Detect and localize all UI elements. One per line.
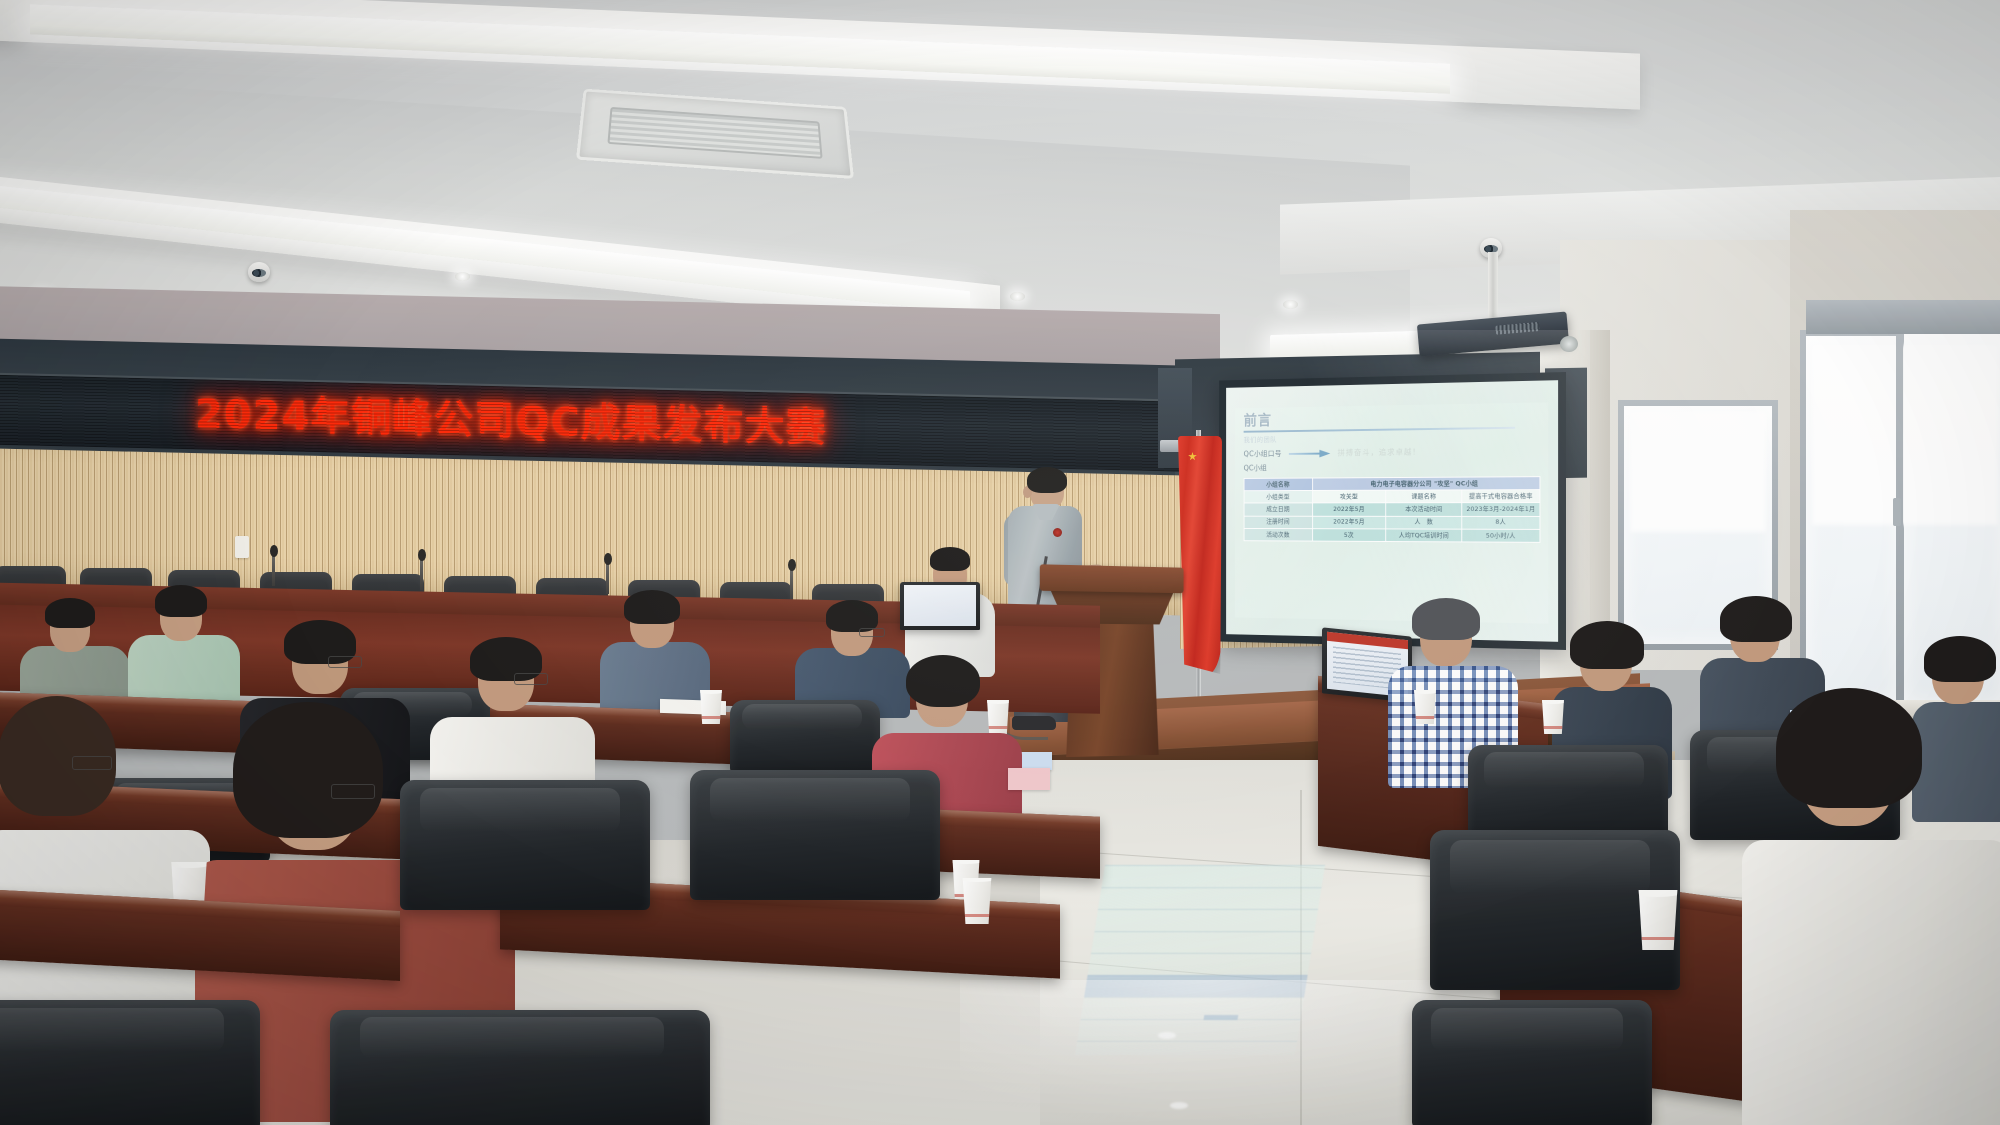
seat-sheen bbox=[1450, 840, 1650, 894]
downlight-icon bbox=[455, 272, 470, 281]
table-cell: 2023年3月-2024年1月 bbox=[1462, 503, 1540, 516]
table-row: 注册时间 2022年5月 人 数 8人 bbox=[1244, 516, 1540, 529]
seat-sheen bbox=[1431, 1008, 1623, 1052]
seat-sheen bbox=[420, 788, 620, 832]
audience-member bbox=[600, 590, 710, 710]
table-cell: 小组名称 bbox=[1244, 478, 1312, 491]
slide-slogan-row: QC小组口号 拼搏奋斗，追求卓越！ bbox=[1244, 445, 1541, 459]
audience-shirt bbox=[1742, 840, 2000, 1125]
table-row: 小组名称 电力电子电容器分公司 "攻坚" QC小组 bbox=[1244, 477, 1540, 491]
audience-hair-ponytail bbox=[906, 655, 980, 707]
table-cell: 电力电子电容器分公司 "攻坚" QC小组 bbox=[1312, 477, 1540, 491]
slide-table: 小组名称 电力电子电容器分公司 "攻坚" QC小组 小组类型 攻关型 课题名称 … bbox=[1244, 476, 1541, 543]
table-cell: 小组类型 bbox=[1244, 491, 1312, 504]
laptop-display bbox=[904, 585, 976, 626]
security-camera-icon bbox=[248, 262, 270, 282]
wall-switch[interactable] bbox=[235, 536, 249, 558]
floor-highlight bbox=[1170, 1102, 1188, 1109]
operator-hair bbox=[930, 547, 970, 571]
glasses-icon bbox=[514, 673, 548, 685]
auditorium-seat[interactable] bbox=[0, 1000, 260, 1125]
paper-cup[interactable] bbox=[960, 878, 994, 924]
table-cell: 8人 bbox=[1462, 516, 1540, 529]
table-cell: 注册时间 bbox=[1244, 516, 1312, 529]
projector-mount-pole bbox=[1488, 252, 1498, 324]
audience-hair bbox=[155, 585, 207, 617]
led-banner-text: 2024年铜峰公司QC成果发布大赛 bbox=[195, 394, 827, 448]
desk-microphone bbox=[606, 560, 609, 594]
audience-hair bbox=[1720, 596, 1792, 642]
slide-content: 前言 我们的团队 QC小组口号 拼搏奋斗，追求卓越！ QC小组 小组名称 电力电… bbox=[1235, 402, 1548, 623]
operator-laptop[interactable] bbox=[900, 582, 980, 630]
table-cell: 成立日期 bbox=[1244, 503, 1312, 516]
window-glare-mid bbox=[1630, 412, 1766, 532]
chinese-flag bbox=[1178, 436, 1222, 674]
audience-member bbox=[128, 585, 240, 700]
paper-cup[interactable] bbox=[1540, 700, 1566, 734]
window-glare bbox=[1812, 345, 1998, 525]
downlight-icon bbox=[1283, 300, 1298, 309]
audience-hair bbox=[1924, 636, 1996, 682]
table-row: 活动次数 5次 人均TQC培训时间 50小时/人 bbox=[1244, 528, 1540, 542]
slide-slogan-text: 拼搏奋斗，追求卓越！ bbox=[1337, 447, 1420, 459]
desk-microphone bbox=[272, 552, 275, 586]
audience-hair bbox=[45, 598, 95, 628]
glasses-icon bbox=[72, 756, 112, 770]
slide-title: 前言 bbox=[1244, 408, 1541, 428]
table-cell: 人 数 bbox=[1386, 516, 1462, 529]
auditorium-seat[interactable] bbox=[730, 700, 880, 774]
glasses-icon bbox=[859, 628, 885, 637]
table-cell: 提高干式电容器合格率 bbox=[1462, 490, 1540, 503]
audience-hair bbox=[1776, 688, 1922, 808]
podium-top bbox=[1040, 564, 1184, 593]
table-cell: 攻关型 bbox=[1312, 490, 1386, 503]
audience-member bbox=[1742, 690, 2000, 1125]
desk-microphone bbox=[420, 556, 423, 590]
seat-sheen bbox=[742, 704, 862, 729]
downlight-icon bbox=[1010, 292, 1025, 301]
slide-section-label: QC小组 bbox=[1244, 460, 1541, 473]
arrow-right-icon bbox=[1289, 450, 1330, 457]
window-handle-icon[interactable] bbox=[1893, 498, 1901, 526]
audience-hair bbox=[1412, 598, 1480, 640]
table-cell: 活动次数 bbox=[1244, 528, 1312, 541]
slide-slogan-label: QC小组口号 bbox=[1244, 448, 1282, 459]
seat-sheen bbox=[360, 1017, 664, 1058]
auditorium-seat[interactable] bbox=[330, 1010, 710, 1125]
seat-sheen bbox=[710, 778, 910, 822]
paper-cup[interactable] bbox=[698, 690, 724, 724]
auditorium-seat[interactable] bbox=[1412, 1000, 1652, 1125]
audience-hair bbox=[1570, 621, 1644, 669]
ac-grill-icon bbox=[608, 107, 822, 159]
glasses-icon bbox=[331, 784, 375, 799]
seat-sheen bbox=[0, 1008, 224, 1052]
table-row: 成立日期 2022年5月 本次活动时间 2023年3月-2024年1月 bbox=[1244, 503, 1540, 516]
presenter-hair bbox=[1027, 467, 1067, 493]
table-cell: 2022年5月 bbox=[1312, 503, 1386, 516]
slide-subtitle: 我们的团队 bbox=[1244, 431, 1541, 445]
seat-sheen bbox=[1484, 752, 1644, 789]
table-row: 小组类型 攻关型 课题名称 提高干式电容器合格率 bbox=[1244, 490, 1540, 504]
desk-microphone bbox=[790, 566, 793, 600]
table-cell: 50小时/人 bbox=[1462, 529, 1540, 542]
auditorium-seat[interactable] bbox=[690, 770, 940, 900]
table-cell: 人均TQC培训时间 bbox=[1386, 529, 1462, 542]
window-transom bbox=[1806, 300, 2000, 334]
table-cell: 5次 bbox=[1312, 529, 1386, 542]
meeting-room-photo: 2024年铜峰公司QC成果发布大赛 前言 我们的团队 QC小组口号 拼搏奋斗，追… bbox=[0, 0, 2000, 1125]
glasses-icon bbox=[328, 656, 362, 668]
paper-cup[interactable] bbox=[1635, 890, 1681, 950]
paper-sheet[interactable] bbox=[1008, 768, 1050, 790]
paper-cup[interactable] bbox=[1412, 690, 1438, 724]
floor-highlight bbox=[1158, 1032, 1176, 1039]
audience-hair bbox=[233, 702, 383, 838]
presenter-badge-icon bbox=[1053, 528, 1062, 537]
auditorium-seat[interactable] bbox=[400, 780, 650, 910]
table-cell: 课题名称 bbox=[1386, 490, 1462, 503]
audience-hair bbox=[624, 590, 680, 624]
table-cell: 2022年5月 bbox=[1312, 516, 1386, 529]
table-cell: 本次活动时间 bbox=[1386, 503, 1462, 516]
